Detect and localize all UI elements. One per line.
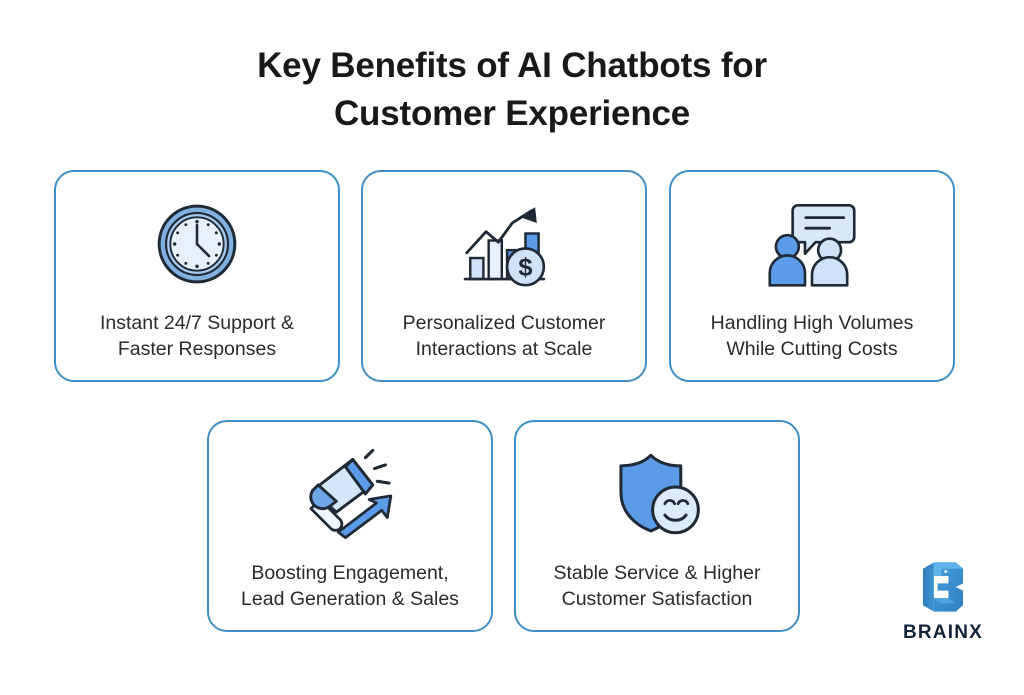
megaphone-arrow-icon <box>295 444 405 544</box>
benefit-card-text-line-1: Handling High Volumes <box>711 312 914 334</box>
page-title-line-2: Customer Experience <box>0 90 1024 138</box>
benefit-card-text-line-2: While Cutting Costs <box>679 336 944 362</box>
benefit-card-text-line-2: Customer Satisfaction <box>524 586 789 612</box>
shield-smiley-icon <box>602 444 712 544</box>
brainx-logo: BRAINX <box>888 556 998 644</box>
benefit-card-text: Handling High Volumes While Cutting Cost… <box>679 310 944 362</box>
benefit-card-text-line-1: Stable Service & Higher <box>553 562 760 584</box>
benefit-card-text-line-2: Lead Generation & Sales <box>217 586 482 612</box>
benefit-card-instant-support: Instant 24/7 Support & Faster Responses <box>54 170 340 382</box>
people-chat-icon <box>757 194 867 294</box>
benefit-card-text: Personalized Customer Interactions at Sc… <box>371 310 636 362</box>
benefit-card-text: Stable Service & Higher Customer Satisfa… <box>524 560 789 612</box>
benefit-card-text-line-1: Personalized Customer <box>403 312 606 334</box>
benefit-card-text-line-1: Instant 24/7 Support & <box>100 312 294 334</box>
clock-icon <box>142 194 252 294</box>
benefit-card-stable-service: Stable Service & Higher Customer Satisfa… <box>514 420 800 632</box>
svg-text:$: $ <box>518 254 532 282</box>
benefit-card-personalized-interactions: $ Personalized Customer Interactions at … <box>361 170 647 382</box>
page-title: Key Benefits of AI Chatbots for Customer… <box>0 42 1024 138</box>
benefit-card-boosting-engagement: Boosting Engagement, Lead Generation & S… <box>207 420 493 632</box>
page-title-line-1: Key Benefits of AI Chatbots for <box>0 42 1024 90</box>
brainx-cube-logo-icon <box>888 556 998 618</box>
benefit-card-text: Instant 24/7 Support & Faster Responses <box>64 310 329 362</box>
benefit-card-text-line-2: Interactions at Scale <box>371 336 636 362</box>
benefit-card-high-volumes: Handling High Volumes While Cutting Cost… <box>669 170 955 382</box>
benefit-card-text: Boosting Engagement, Lead Generation & S… <box>217 560 482 612</box>
growth-chart-dollar-icon: $ <box>449 194 559 294</box>
benefit-card-text-line-1: Boosting Engagement, <box>251 562 448 584</box>
benefit-card-text-line-2: Faster Responses <box>64 336 329 362</box>
brainx-wordmark: BRAINX <box>888 622 998 644</box>
